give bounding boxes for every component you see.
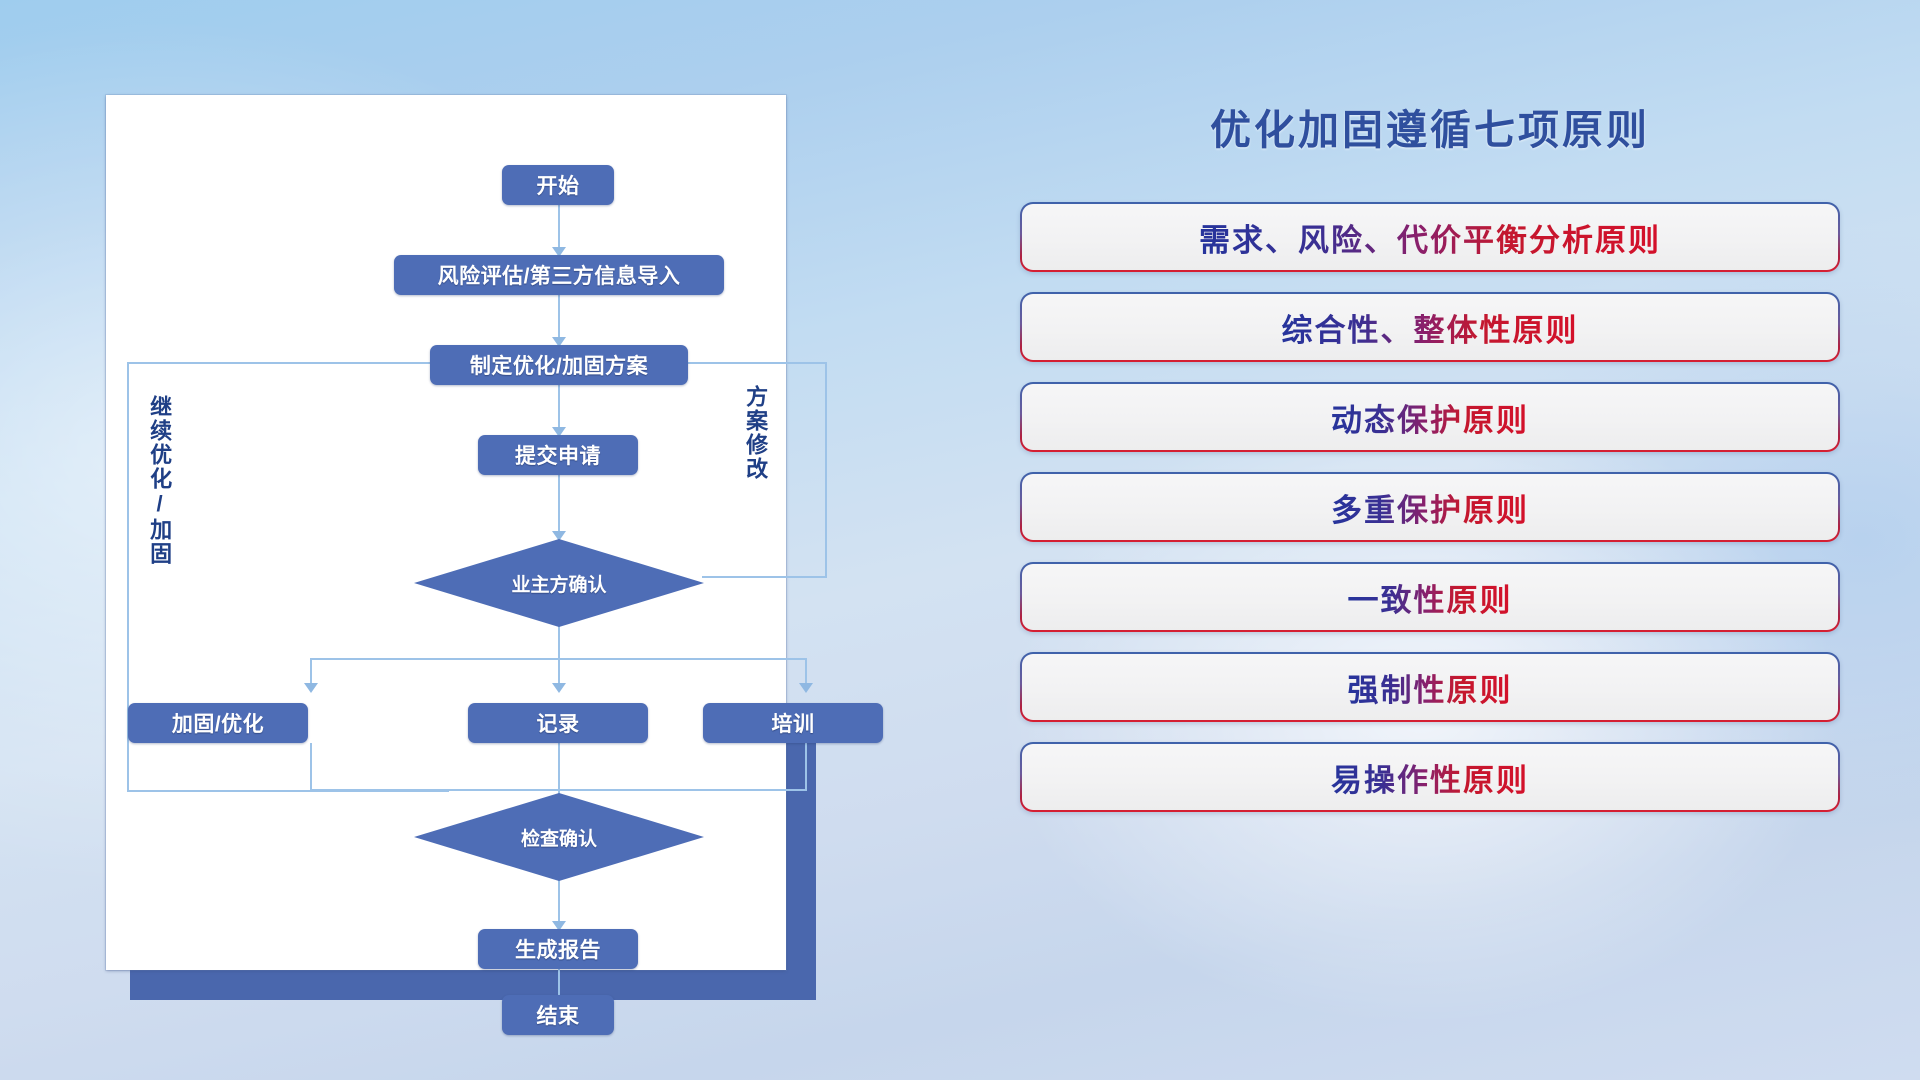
arrowhead-to-reinforce (304, 683, 318, 693)
flow-node-check-confirm-label: 检查确认 (521, 824, 597, 851)
connector-owner-down (558, 625, 560, 660)
principle-label-6: 强制性原则 (1348, 665, 1513, 710)
connector-plan-submit (558, 383, 560, 431)
principle-label-7: 易操作性原则 (1331, 755, 1529, 800)
flow-node-submit[interactable]: 提交申请 (478, 435, 638, 475)
principle-label-2: 综合性、整体性原则 (1282, 305, 1579, 350)
principle-card-inner: 多重保护原则 (1022, 474, 1838, 540)
principle-label-5: 一致性原则 (1348, 575, 1513, 620)
principle-card-5[interactable]: 一致性原则 (1020, 562, 1840, 632)
flow-node-risk-assessment-label: 风险评估/第三方信息导入 (438, 260, 681, 290)
flow-node-start[interactable]: 开始 (502, 165, 614, 205)
principle-card-inner: 一致性原则 (1022, 564, 1838, 630)
connector-start-risk (558, 203, 560, 251)
principles-title: 优化加固遵循七项原则 (1020, 96, 1840, 156)
flowchart-canvas: 开始 风险评估/第三方信息导入 制定优化/加固方案 提交申请 业主方确认 加固/… (106, 95, 786, 970)
flow-node-reinforce-label: 加固/优化 (172, 708, 264, 738)
principle-card-6[interactable]: 强制性原则 (1020, 652, 1840, 722)
principle-label-1: 需求、风险、代价平衡分析原则 (1199, 215, 1661, 260)
flow-node-start-label: 开始 (537, 170, 580, 200)
connector-right-up (825, 362, 827, 578)
flow-node-report[interactable]: 生成报告 (478, 929, 638, 969)
arrowhead-to-record (552, 683, 566, 693)
principle-label-4: 多重保护原则 (1331, 485, 1529, 530)
connector-record-down (558, 743, 560, 791)
flow-edge-label-right: 方案修改 (744, 385, 767, 515)
flowchart-card: 开始 风险评估/第三方信息导入 制定优化/加固方案 提交申请 业主方确认 加固/… (106, 95, 786, 970)
flow-node-reinforce[interactable]: 加固/优化 (128, 703, 308, 743)
connector-submit-owner (558, 473, 560, 535)
connector-risk-plan (558, 293, 560, 341)
flow-node-risk-assessment[interactable]: 风险评估/第三方信息导入 (394, 255, 724, 295)
flow-node-plan-label: 制定优化/加固方案 (470, 350, 648, 380)
flow-node-record-label: 记录 (537, 708, 580, 738)
flow-node-submit-label: 提交申请 (515, 440, 601, 470)
flow-node-record[interactable]: 记录 (468, 703, 648, 743)
flow-node-report-label: 生成报告 (515, 934, 601, 964)
principles-panel: 优化加固遵循七项原则 需求、风险、代价平衡分析原则 综合性、整体性原则 动态保护… (1020, 96, 1840, 832)
principle-card-1[interactable]: 需求、风险、代价平衡分析原则 (1020, 202, 1840, 272)
principle-card-inner: 易操作性原则 (1022, 744, 1838, 810)
principle-card-inner: 动态保护原则 (1022, 384, 1838, 450)
flow-node-training[interactable]: 培训 (703, 703, 883, 743)
principle-card-7[interactable]: 易操作性原则 (1020, 742, 1840, 812)
principle-label-3: 动态保护原则 (1331, 395, 1529, 440)
connector-check-report (558, 880, 560, 925)
flow-node-end[interactable]: 结束 (502, 995, 614, 1035)
principle-card-inner: 强制性原则 (1022, 654, 1838, 720)
flow-edge-label-left: 继续优化/加固 (148, 395, 171, 585)
flow-node-owner-confirm-label: 业主方确认 (511, 570, 606, 597)
flow-node-end-label: 结束 (537, 1000, 580, 1030)
connector-reinforce-down (310, 743, 312, 791)
flow-node-owner-confirm[interactable]: 业主方确认 (414, 539, 704, 627)
principle-card-4[interactable]: 多重保护原则 (1020, 472, 1840, 542)
principle-card-2[interactable]: 综合性、整体性原则 (1020, 292, 1840, 362)
principle-card-inner: 综合性、整体性原则 (1022, 294, 1838, 360)
flow-node-check-confirm[interactable]: 检查确认 (414, 793, 704, 881)
principle-card-inner: 需求、风险、代价平衡分析原则 (1022, 204, 1838, 270)
flow-node-plan[interactable]: 制定优化/加固方案 (430, 345, 688, 385)
connector-owner-right (702, 576, 827, 578)
connector-train-down (805, 743, 807, 791)
flow-node-training-label: 培训 (772, 708, 815, 738)
principle-card-3[interactable]: 动态保护原则 (1020, 382, 1840, 452)
arrowhead-to-train (799, 683, 813, 693)
